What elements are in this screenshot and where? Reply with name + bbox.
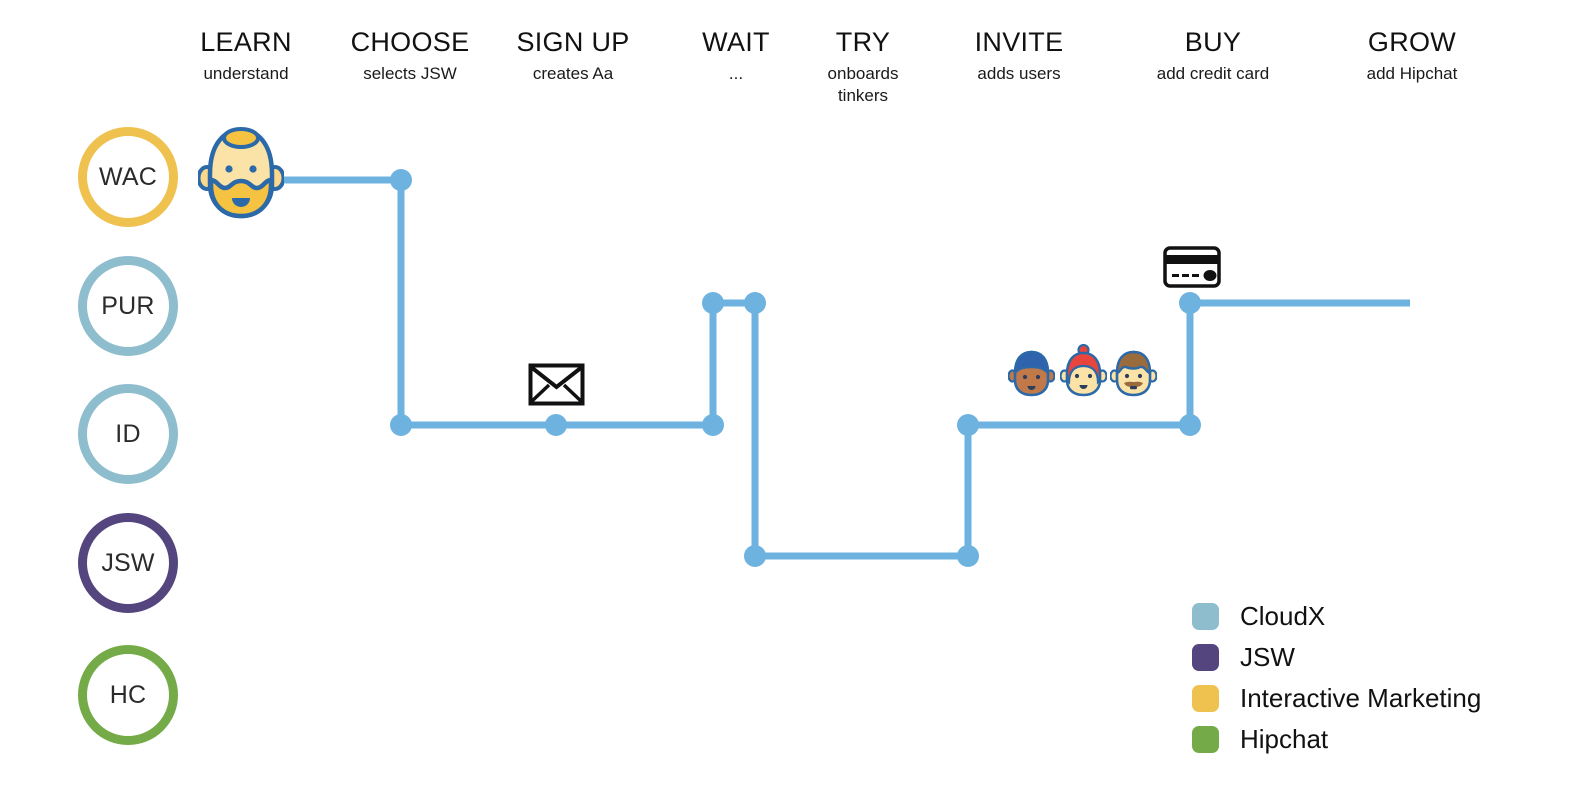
flow-node[interactable]	[390, 414, 412, 436]
user-avatar-blue-hair	[1008, 348, 1055, 398]
legend-item-hipchat[interactable]: Hipchat	[1192, 719, 1481, 760]
credit-card-icon	[1163, 246, 1221, 288]
legend-label: JSW	[1240, 642, 1295, 673]
flow-node[interactable]	[390, 169, 412, 191]
flow-node[interactable]	[744, 545, 766, 567]
legend-label: CloudX	[1240, 601, 1325, 632]
legend-swatch	[1192, 685, 1219, 712]
flow-node[interactable]	[1179, 292, 1201, 314]
flow-node[interactable]	[1179, 414, 1201, 436]
legend: CloudX JSW Interactive Marketing Hipchat	[1192, 596, 1481, 760]
legend-item-cloudx[interactable]: CloudX	[1192, 596, 1481, 637]
bearded-person-avatar	[198, 122, 284, 222]
flow-path	[283, 180, 1410, 556]
legend-label: Hipchat	[1240, 724, 1328, 755]
legend-item-jsw[interactable]: JSW	[1192, 637, 1481, 678]
flow-node[interactable]	[957, 545, 979, 567]
legend-swatch	[1192, 644, 1219, 671]
journey-map-canvas: LEARN understand CHOOSE selects JSW SIGN…	[0, 0, 1586, 792]
flow-node[interactable]	[744, 292, 766, 314]
legend-item-interactive-marketing[interactable]: Interactive Marketing	[1192, 678, 1481, 719]
legend-label: Interactive Marketing	[1240, 683, 1481, 714]
user-avatar-brown-hair	[1110, 348, 1157, 398]
legend-swatch	[1192, 603, 1219, 630]
flow-node[interactable]	[702, 292, 724, 314]
flow-node[interactable]	[702, 414, 724, 436]
envelope-icon	[528, 363, 585, 406]
flow-node[interactable]	[545, 414, 567, 436]
legend-swatch	[1192, 726, 1219, 753]
flow-node[interactable]	[957, 414, 979, 436]
user-avatar-red-bun	[1060, 344, 1107, 398]
